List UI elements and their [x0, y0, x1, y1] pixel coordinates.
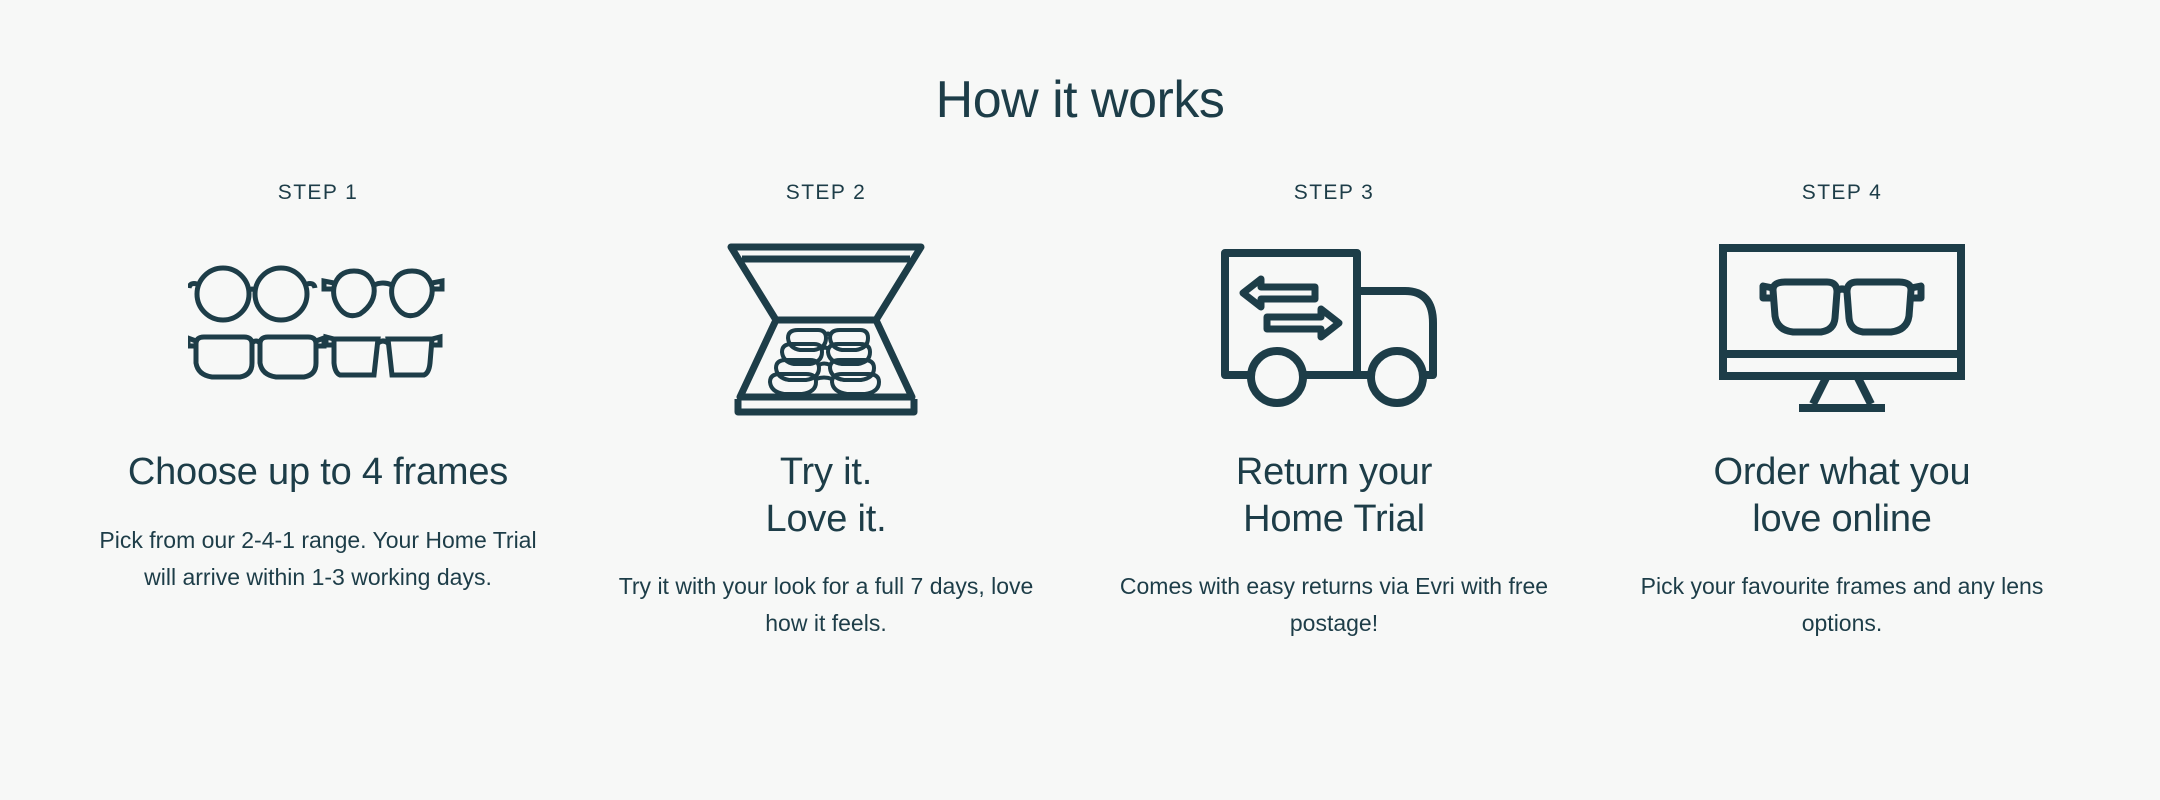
step-label-3: STEP 3: [1294, 181, 1374, 205]
step-heading-4: Order what you love online: [1714, 449, 1971, 542]
step-label-2: STEP 2: [786, 181, 866, 205]
step-heading-3: Return your Home Trial: [1236, 449, 1432, 542]
steps-row: STEP 1: [75, 181, 2085, 642]
how-it-works-section: How it works STEP 1: [0, 0, 2160, 800]
monitor-with-glasses-icon: [1717, 239, 1967, 419]
step-card-4: STEP 4: [1599, 181, 2085, 642]
step-body-3: Comes with easy returns via Evri with fr…: [1104, 568, 1564, 643]
step-body-1: Pick from our 2-4-1 range. Your Home Tri…: [81, 522, 556, 597]
step-card-3: STEP 3: [1091, 181, 1577, 642]
open-box-with-glasses-icon: [726, 239, 926, 419]
step-card-2: STEP 2: [583, 181, 1069, 642]
step-body-2: Try it with your look for a full 7 days,…: [606, 568, 1046, 643]
four-glasses-frames-icon: [188, 239, 448, 419]
step-body-4: Pick your favourite frames and any lens …: [1617, 568, 2067, 643]
delivery-truck-return-icon: [1219, 239, 1449, 419]
page-title: How it works: [936, 72, 1225, 129]
step-label-1: STEP 1: [278, 181, 358, 205]
step-heading-1: Choose up to 4 frames: [128, 449, 508, 495]
step-label-4: STEP 4: [1802, 181, 1882, 205]
step-heading-2: Try it. Love it.: [766, 449, 887, 542]
step-card-1: STEP 1: [75, 181, 561, 596]
